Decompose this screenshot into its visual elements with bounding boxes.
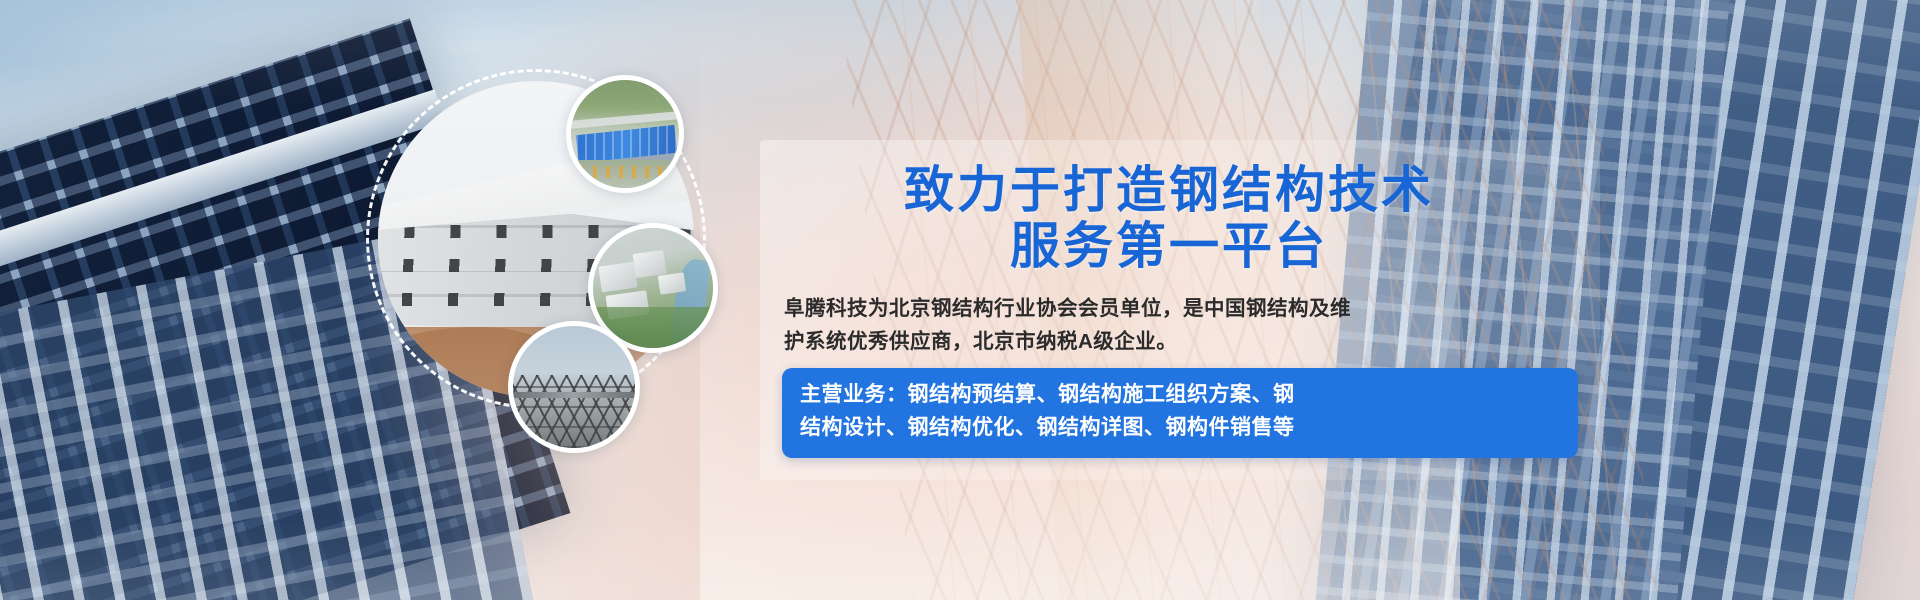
hero-banner: 致力于打造钢结构技术 服务第一平台 阜腾科技为北京钢结构行业协会会员单位，是中国…	[0, 0, 1920, 600]
photo-truss-lattice	[508, 375, 640, 448]
business-scope-line-1: 主营业务：钢结构预结算、钢结构施工组织方案、钢	[800, 379, 1560, 412]
photo-truss-beam	[513, 392, 635, 398]
text-panel: 致力于打造钢结构技术 服务第一平台 阜腾科技为北京钢结构行业协会会员单位，是中国…	[760, 140, 1600, 480]
headline-line-2: 服务第一平台	[760, 218, 1578, 274]
business-scope-callout: 主营业务：钢结构预结算、钢结构施工组织方案、钢 结构设计、钢结构优化、钢结构详图…	[782, 368, 1578, 458]
description-line-2: 护系统优秀供应商，北京市纳税A级企业。	[784, 325, 1574, 358]
description-paragraph: 阜腾科技为北京钢结构行业协会会员单位，是中国钢结构及维 护系统优秀供应商，北京市…	[784, 292, 1574, 358]
description-line-1: 阜腾科技为北京钢结构行业协会会员单位，是中国钢结构及维	[784, 292, 1574, 325]
photo-campus-building-4	[658, 272, 687, 295]
photo-campus-building-2	[632, 250, 666, 278]
photo-cluster	[360, 55, 740, 475]
headline-line-1: 致力于打造钢结构技术	[760, 162, 1578, 218]
headline: 致力于打造钢结构技术 服务第一平台	[760, 162, 1578, 274]
photo-circle-steel-truss-space-frame	[508, 321, 640, 453]
photo-aerial-yard	[571, 160, 679, 188]
photo-campus-building-1	[599, 262, 638, 293]
business-scope-line-2: 结构设计、钢结构优化、钢结构详图、钢构件销售等	[800, 412, 1560, 445]
photo-circle-aerial-blue-roof-factory	[566, 75, 684, 193]
